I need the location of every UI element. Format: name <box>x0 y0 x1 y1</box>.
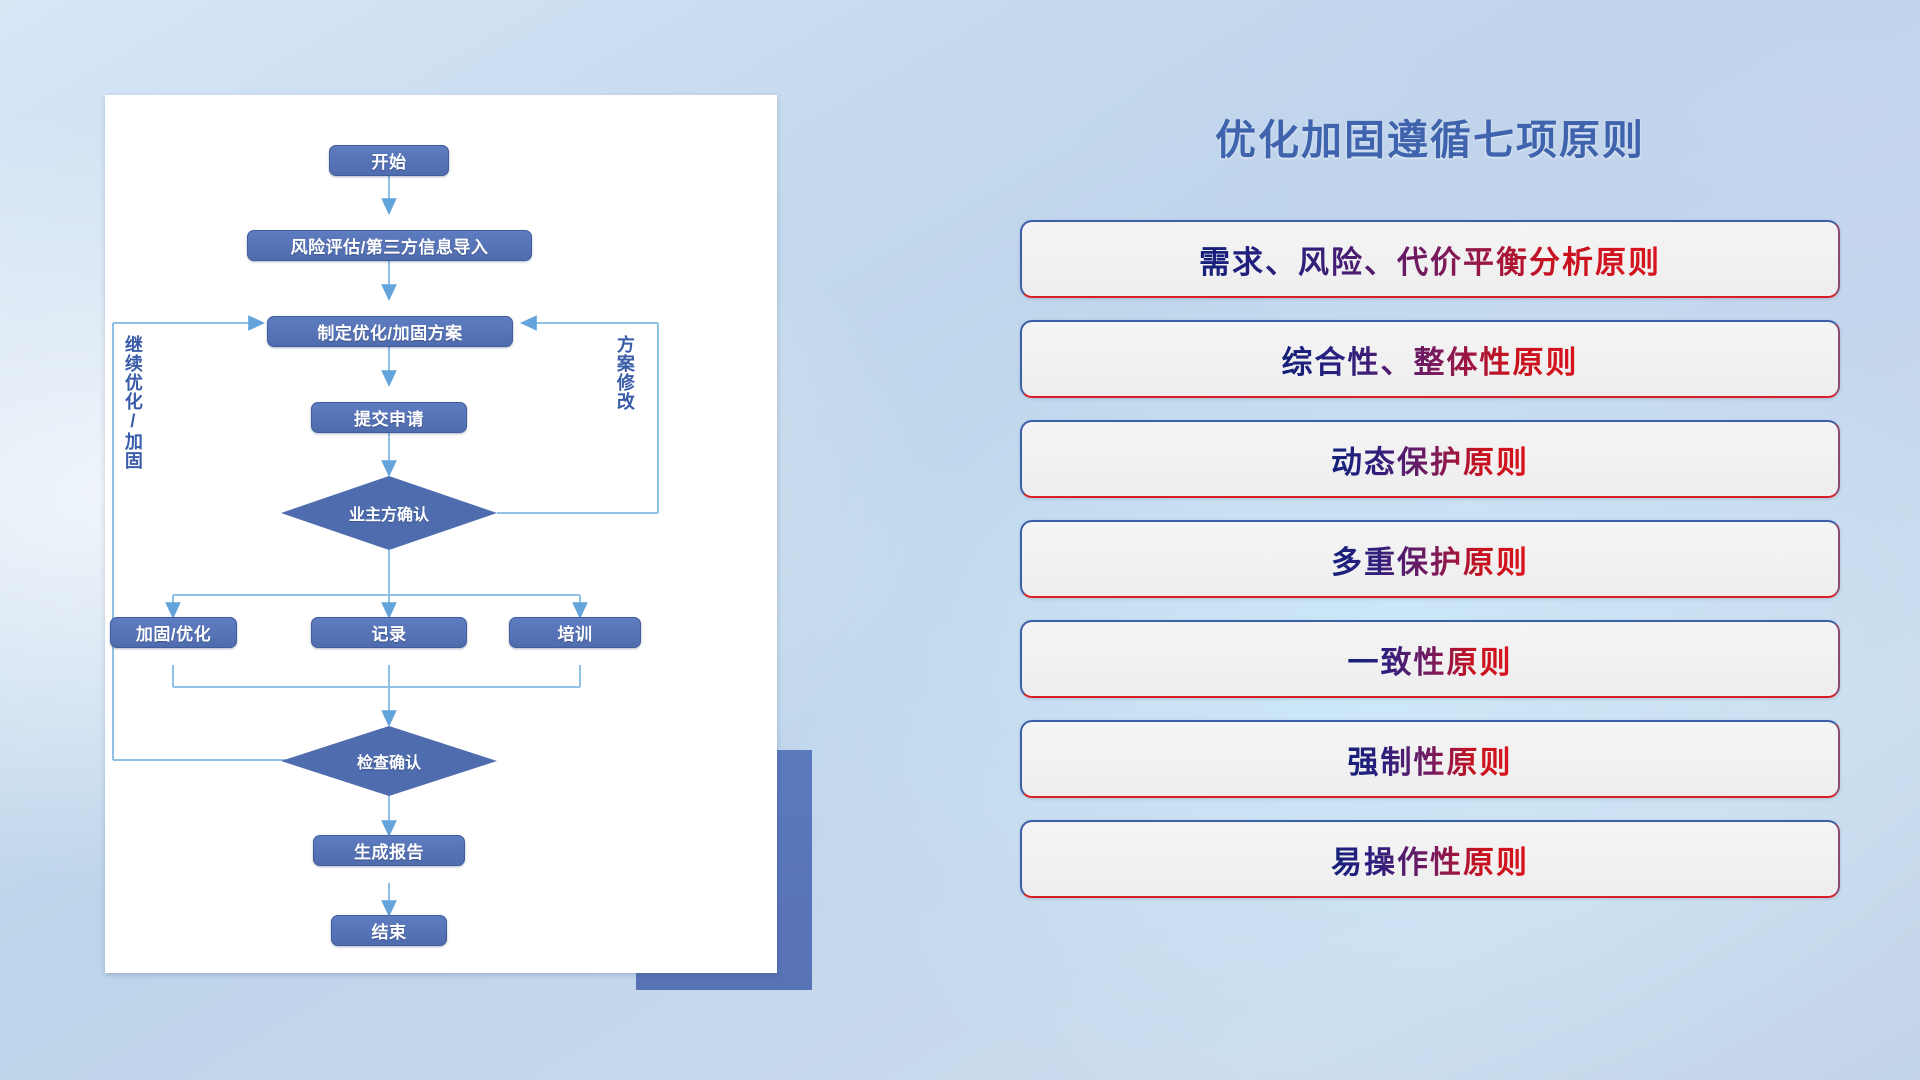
flow-node-label: 业主方确认 <box>349 501 429 525</box>
principle-item[interactable]: 多重保护原则 <box>1020 520 1840 598</box>
flow-node-label: 培训 <box>558 620 593 645</box>
principle-label: 需求、风险、代价平衡分析原则 <box>1199 237 1661 282</box>
principle-item[interactable]: 易操作性原则 <box>1020 820 1840 898</box>
principle-label: 综合性、整体性原则 <box>1282 337 1579 382</box>
principle-item[interactable]: 需求、风险、代价平衡分析原则 <box>1020 220 1840 298</box>
flow-node-label: 制定优化/加固方案 <box>317 319 462 344</box>
principle-item[interactable]: 强制性原则 <box>1020 720 1840 798</box>
principle-label: 易操作性原则 <box>1331 837 1529 882</box>
edge-label-continue-optimize: 继续优化/加固 <box>123 335 142 470</box>
principle-item[interactable]: 动态保护原则 <box>1020 420 1840 498</box>
principle-label: 一致性原则 <box>1348 637 1513 682</box>
flow-node-start[interactable]: 开始 <box>329 145 449 176</box>
slide-canvas: 开始 风险评估/第三方信息导入 制定优化/加固方案 提交申请 业主方确认 加固/… <box>0 0 1920 1080</box>
flow-node-label: 结束 <box>372 918 407 943</box>
principles-panel: 优化加固遵循七项原则 需求、风险、代价平衡分析原则 综合性、整体性原则 动态保护… <box>1020 100 1840 1000</box>
flow-node-risk-assessment[interactable]: 风险评估/第三方信息导入 <box>247 230 532 261</box>
flow-node-label: 生成报告 <box>354 838 424 863</box>
flow-node-label: 提交申请 <box>354 405 424 430</box>
flow-node-label: 开始 <box>372 148 407 173</box>
principle-label: 动态保护原则 <box>1331 437 1529 482</box>
flow-node-label: 风险评估/第三方信息导入 <box>291 233 489 258</box>
edge-label-plan-revision: 方案修改 <box>615 335 634 411</box>
flowchart-diagram: 开始 风险评估/第三方信息导入 制定优化/加固方案 提交申请 业主方确认 加固/… <box>105 95 777 973</box>
flow-node-label: 加固/优化 <box>136 620 211 645</box>
principle-item[interactable]: 综合性、整体性原则 <box>1020 320 1840 398</box>
principle-label: 多重保护原则 <box>1331 537 1529 582</box>
flow-node-record[interactable]: 记录 <box>311 617 467 648</box>
flow-node-label: 检查确认 <box>357 749 421 773</box>
principles-list: 需求、风险、代价平衡分析原则 综合性、整体性原则 动态保护原则 多重保护原则 一… <box>1020 220 1840 920</box>
flowchart-card: 开始 风险评估/第三方信息导入 制定优化/加固方案 提交申请 业主方确认 加固/… <box>105 95 777 973</box>
flow-node-submit-application[interactable]: 提交申请 <box>311 402 467 433</box>
panel-title: 优化加固遵循七项原则 <box>1020 106 1840 166</box>
flow-node-reinforce-optimize[interactable]: 加固/优化 <box>110 617 237 648</box>
flow-node-generate-report[interactable]: 生成报告 <box>313 835 465 866</box>
flow-node-training[interactable]: 培训 <box>509 617 641 648</box>
flow-node-end[interactable]: 结束 <box>331 915 447 946</box>
principle-item[interactable]: 一致性原则 <box>1020 620 1840 698</box>
flow-node-make-plan[interactable]: 制定优化/加固方案 <box>267 316 513 347</box>
flow-node-label: 记录 <box>372 620 407 645</box>
principle-label: 强制性原则 <box>1348 737 1513 782</box>
